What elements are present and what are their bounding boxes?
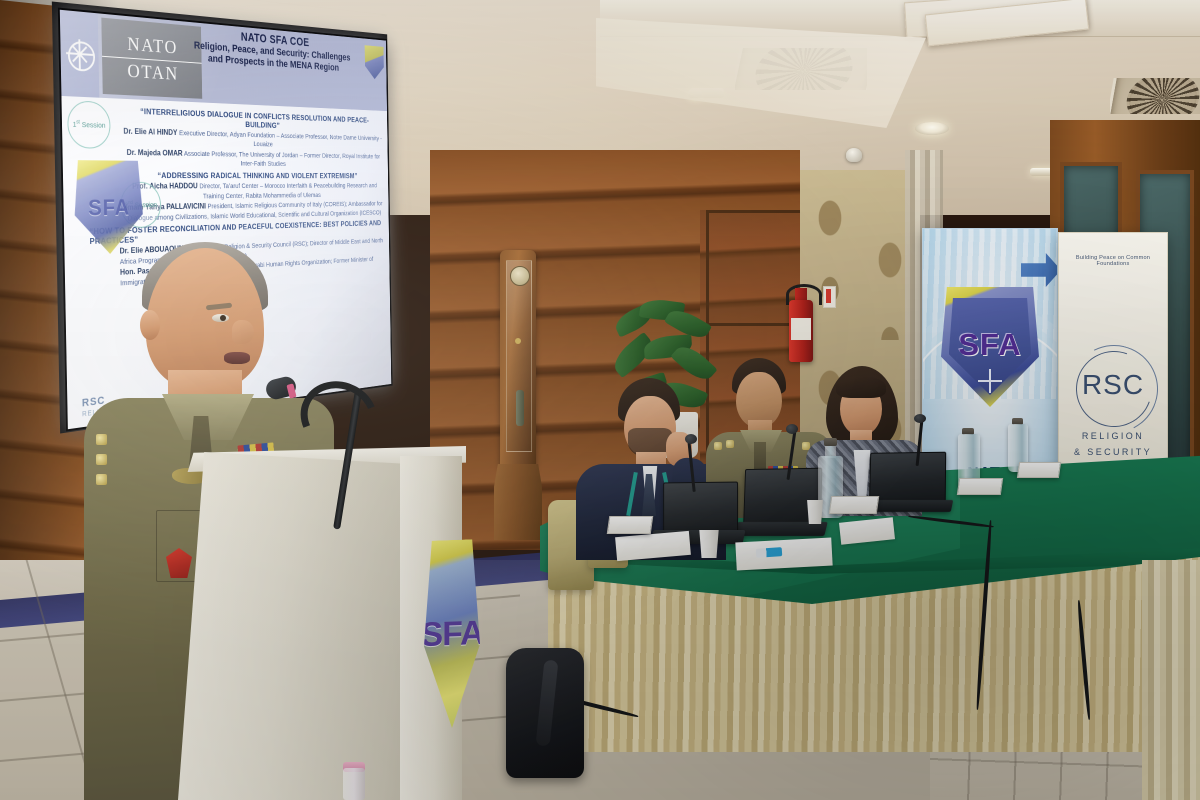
session-2-heading: “ADDRESSING RADICAL THINKING AND VIOLENT… xyxy=(122,170,385,180)
clock-base xyxy=(494,464,542,540)
clock-pendulum xyxy=(516,390,524,426)
conference-photo: NATO OTAN NATO SFA COE Religion, Peace, … xyxy=(0,0,1200,800)
bottle-cap xyxy=(824,438,837,446)
hair-fringe xyxy=(836,376,886,398)
speaker-role: Director, Ta’aruf Center – Morocco Inter… xyxy=(199,182,377,200)
table-microphone-head[interactable] xyxy=(914,414,926,423)
rsc-tagline: Building Peace on Common Foundations xyxy=(1059,255,1167,267)
grandfather-clock xyxy=(494,250,542,540)
session-badge-1: 1st Session xyxy=(67,100,111,149)
necktie xyxy=(754,442,766,470)
nato-otan-wordmark: NATO OTAN xyxy=(101,18,202,99)
rank-insignia-star xyxy=(96,454,107,465)
fire-extinguisher-sign-glyph xyxy=(826,289,831,303)
speaker-role: Associate Professor, The University of J… xyxy=(184,149,380,168)
curtain-panel xyxy=(1142,560,1200,800)
name-plate xyxy=(1017,462,1061,478)
session-badge-1-text: 1st Session xyxy=(72,120,105,130)
ceiling-vent xyxy=(1110,78,1200,114)
paper-cup[interactable] xyxy=(698,530,720,558)
document-papers[interactable] xyxy=(735,538,832,571)
pupil xyxy=(220,315,226,321)
nato-star-icon xyxy=(978,369,1002,393)
laptop-base[interactable] xyxy=(734,522,827,536)
sfa-shield-icon xyxy=(365,45,384,80)
nato-star-icon xyxy=(60,10,100,98)
security-camera xyxy=(846,148,862,162)
sfa-shield-letters: SFA xyxy=(941,327,1039,363)
speaker-name: Dr. Elie Al HINDY xyxy=(123,127,177,137)
water-bottle-on-floor[interactable] xyxy=(343,768,365,800)
name-plate xyxy=(607,516,654,534)
session-1-speaker-2: Dr. Majeda OMAR Associate Professor, The… xyxy=(121,148,384,169)
table-microphone-head[interactable] xyxy=(685,434,697,444)
name-plate xyxy=(957,478,1003,495)
slide-title-block: NATO SFA COE Religion, Peace, and Securi… xyxy=(188,26,355,76)
rank-insignia xyxy=(714,442,722,450)
laptop-screen[interactable] xyxy=(869,452,946,507)
fire-extinguisher-label xyxy=(791,318,811,340)
rank-insignia-star xyxy=(96,434,107,445)
ear xyxy=(140,310,160,340)
ceiling-downlight xyxy=(915,122,949,135)
name-plate xyxy=(829,496,880,514)
clock-face xyxy=(510,266,530,286)
rsc-name-line2: & SECURITY xyxy=(1059,445,1167,461)
podium-logo-letters: SFA xyxy=(420,613,483,654)
paper-cup[interactable] xyxy=(806,500,824,524)
highlighter-marker[interactable] xyxy=(756,547,783,558)
clock-weight xyxy=(515,338,521,344)
rsc-wordmark: RSC xyxy=(1059,369,1167,401)
rsc-name-line1: RELIGION xyxy=(1059,429,1167,445)
speaker-name: Dr. Majeda OMAR xyxy=(127,148,183,157)
rank-insignia-star xyxy=(96,474,107,485)
nato-label: NATO xyxy=(127,34,178,58)
rank-insignia xyxy=(726,440,734,448)
mouth xyxy=(224,352,250,364)
otan-label: OTAN xyxy=(127,61,179,84)
nose xyxy=(232,320,254,344)
session-2-speaker-1: Prof. Aicha HADDOU Director, Ta’aruf Cen… xyxy=(122,182,385,202)
table-microphone-head[interactable] xyxy=(786,424,798,434)
